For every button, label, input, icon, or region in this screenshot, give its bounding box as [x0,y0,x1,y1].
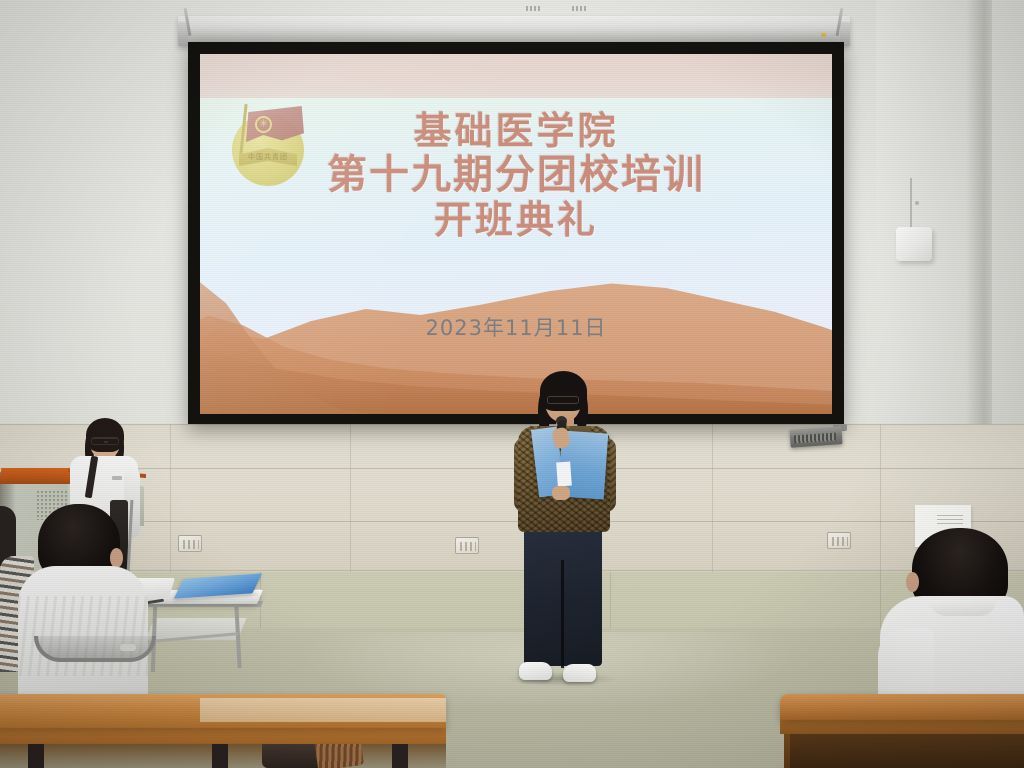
podium-student-hair [86,418,124,452]
desk-leg [212,742,228,768]
tile-seam [170,424,171,572]
slide-title-line-3: 开班典礼 [200,199,832,242]
speaker-hair [540,371,587,411]
shirt-logo [112,476,122,480]
slide-title-line-2: 第十九期分团校培训 [200,153,832,199]
shoe-stripe [526,6,540,11]
tile-seam [0,521,1024,522]
podium-student-glasses [91,437,119,445]
desk-leg [392,742,408,768]
slide-title: 基础医学院 第十九期分团校培训 开班典礼 [200,110,832,242]
shoe-stripe [572,6,586,11]
folder-paper [556,462,572,487]
wall-outlet[interactable] [827,532,851,549]
classroom-chair [34,636,156,662]
slide-top-band [200,54,832,98]
photo-scene: ✳ 中国共青团 基础医学院 第十九期分团校培训 开班典礼 2023年11月11日 [0,0,1024,768]
tile-seam [0,570,1024,571]
chair-knob [120,644,136,651]
wall-outlet[interactable] [178,535,202,552]
wall-tile-band [0,424,1024,576]
control-box-cable [910,178,912,230]
wall-seam [610,572,611,630]
speaker-glasses [547,396,579,404]
speaker-shoe-left [519,662,552,680]
speaker-shoe-right [563,664,596,682]
desk-leg [28,742,44,768]
seated-student-right-collar [930,600,996,616]
wall-outlet[interactable] [455,537,479,554]
speaker-hand-right [552,486,570,500]
slide-title-line-1: 基础医学院 [200,110,832,153]
housing-led-icon [821,33,826,37]
tile-seam [0,424,1024,425]
wall-control-box[interactable] [896,227,932,261]
slide-date: 2023年11月11日 [200,312,832,342]
seated-student-left-ear [110,548,123,568]
desk-right [780,694,1024,720]
tile-seam [350,424,351,572]
tile-seam [880,424,881,572]
tile-seam [712,424,713,572]
right-wall-panel [876,0,1024,432]
tile-seam [0,468,1024,469]
speaker-trouser-seam [561,560,564,668]
wall-seam [880,572,881,630]
slide-surface: ✳ 中国共青团 基础医学院 第十九期分团校培训 开班典礼 2023年11月11日 [200,54,832,414]
desk-front-panel [790,730,1024,768]
wall-corner-shadow [966,0,992,470]
wall-speaker [789,426,842,448]
wall-anchor-dot [915,201,919,205]
seated-student-right-ear [906,572,919,592]
housing-end-cap [840,22,850,42]
projection-screen[interactable]: ✳ 中国共青团 基础医学院 第十九期分团校培训 开班典礼 2023年11月11日 [188,42,844,424]
desk-surface-highlight [200,698,446,722]
